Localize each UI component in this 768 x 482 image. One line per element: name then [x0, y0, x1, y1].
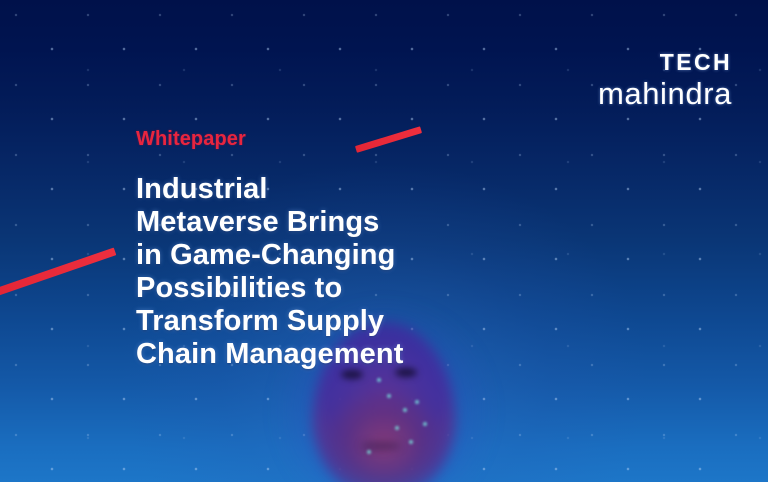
logo-text-mahindra: mahindra [598, 77, 732, 111]
headline-line: Transform Supply [136, 305, 606, 338]
face-mesh-point [409, 440, 413, 444]
face-eye-left [341, 370, 363, 379]
accent-stroke-left [0, 248, 116, 297]
document-type-label: Whitepaper [136, 128, 606, 151]
tech-mahindra-logo: TECH mahindra [598, 50, 732, 111]
face-mesh-point [415, 400, 419, 404]
face-mesh-point [403, 408, 407, 412]
face-mouth [361, 442, 401, 450]
headline-line: Industrial [136, 173, 606, 206]
headline-line: Metaverse Brings [136, 206, 606, 239]
page-title: Industrial Metaverse Brings in Game-Chan… [136, 173, 606, 371]
headline-line: Chain Management [136, 338, 606, 371]
headline-line: Possibilities to [136, 272, 606, 305]
headline-line: in Game-Changing [136, 239, 606, 272]
whitepaper-cover: TECH mahindra Whitepaper Industrial Meta… [0, 0, 768, 482]
logo-text-tech: TECH [598, 50, 732, 74]
cover-text-block: Whitepaper Industrial Metaverse Brings i… [136, 128, 606, 371]
face-mesh-point [423, 422, 427, 426]
face-mesh-point [387, 394, 391, 398]
face-mesh-point [377, 378, 381, 382]
face-mesh-point [367, 450, 371, 454]
face-mesh-point [395, 426, 399, 430]
